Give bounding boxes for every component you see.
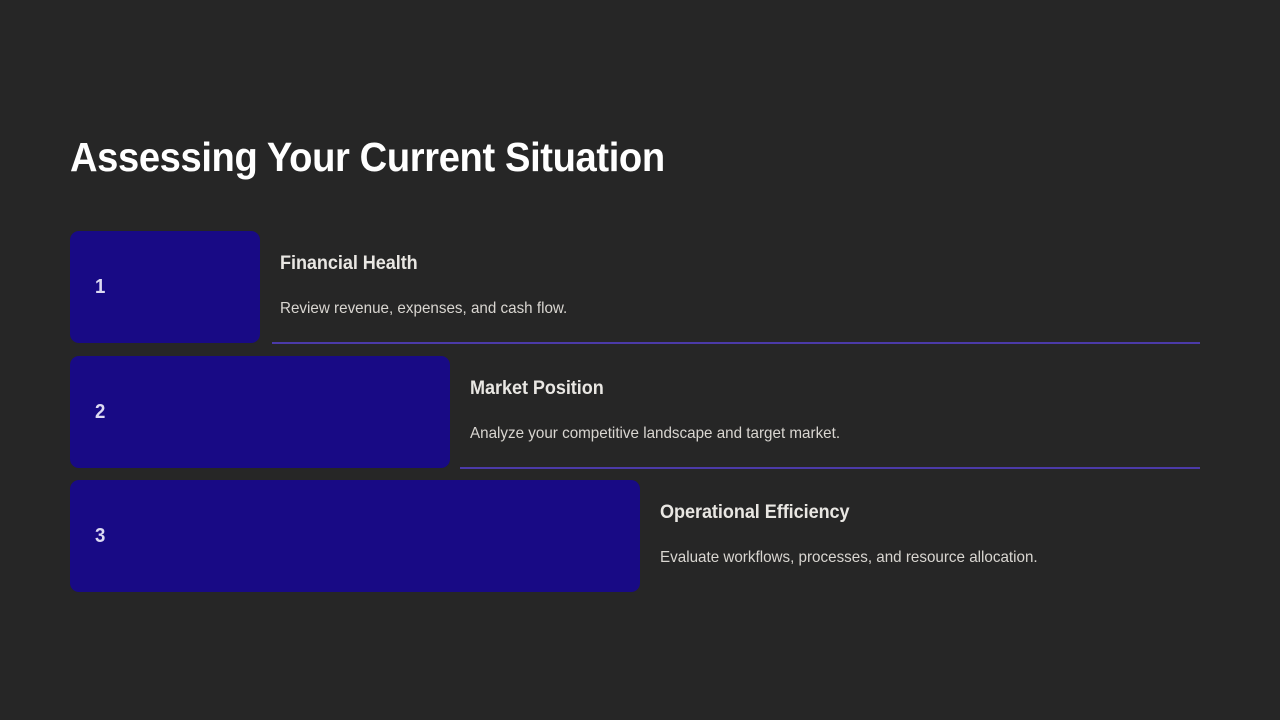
step-description: Evaluate workflows, processes, and resou…	[660, 548, 1038, 568]
assessment-step-list: 1 Financial Health Review revenue, expen…	[0, 0, 1280, 720]
slide-canvas: Assessing Your Current Situation 1 Finan…	[0, 0, 1280, 720]
step-number-box[interactable]: 1	[70, 231, 260, 343]
row-divider	[272, 342, 1200, 344]
step-text-group: Market Position Analyze your competitive…	[470, 356, 1200, 468]
step-number-label: 1	[95, 275, 105, 299]
step-number-label: 3	[95, 524, 105, 548]
step-number-box[interactable]: 2	[70, 356, 450, 468]
step-title: Operational Efficiency	[660, 501, 850, 525]
row-divider	[460, 467, 1200, 469]
step-text-group: Financial Health Review revenue, expense…	[280, 231, 1200, 343]
step-title: Financial Health	[280, 252, 418, 276]
step-number-box[interactable]: 3	[70, 480, 640, 592]
step-text-group: Operational Efficiency Evaluate workflow…	[660, 480, 1200, 592]
step-description: Analyze your competitive landscape and t…	[470, 424, 840, 444]
step-title: Market Position	[470, 377, 604, 401]
step-number-label: 2	[95, 400, 105, 424]
step-description: Review revenue, expenses, and cash flow.	[280, 299, 567, 319]
